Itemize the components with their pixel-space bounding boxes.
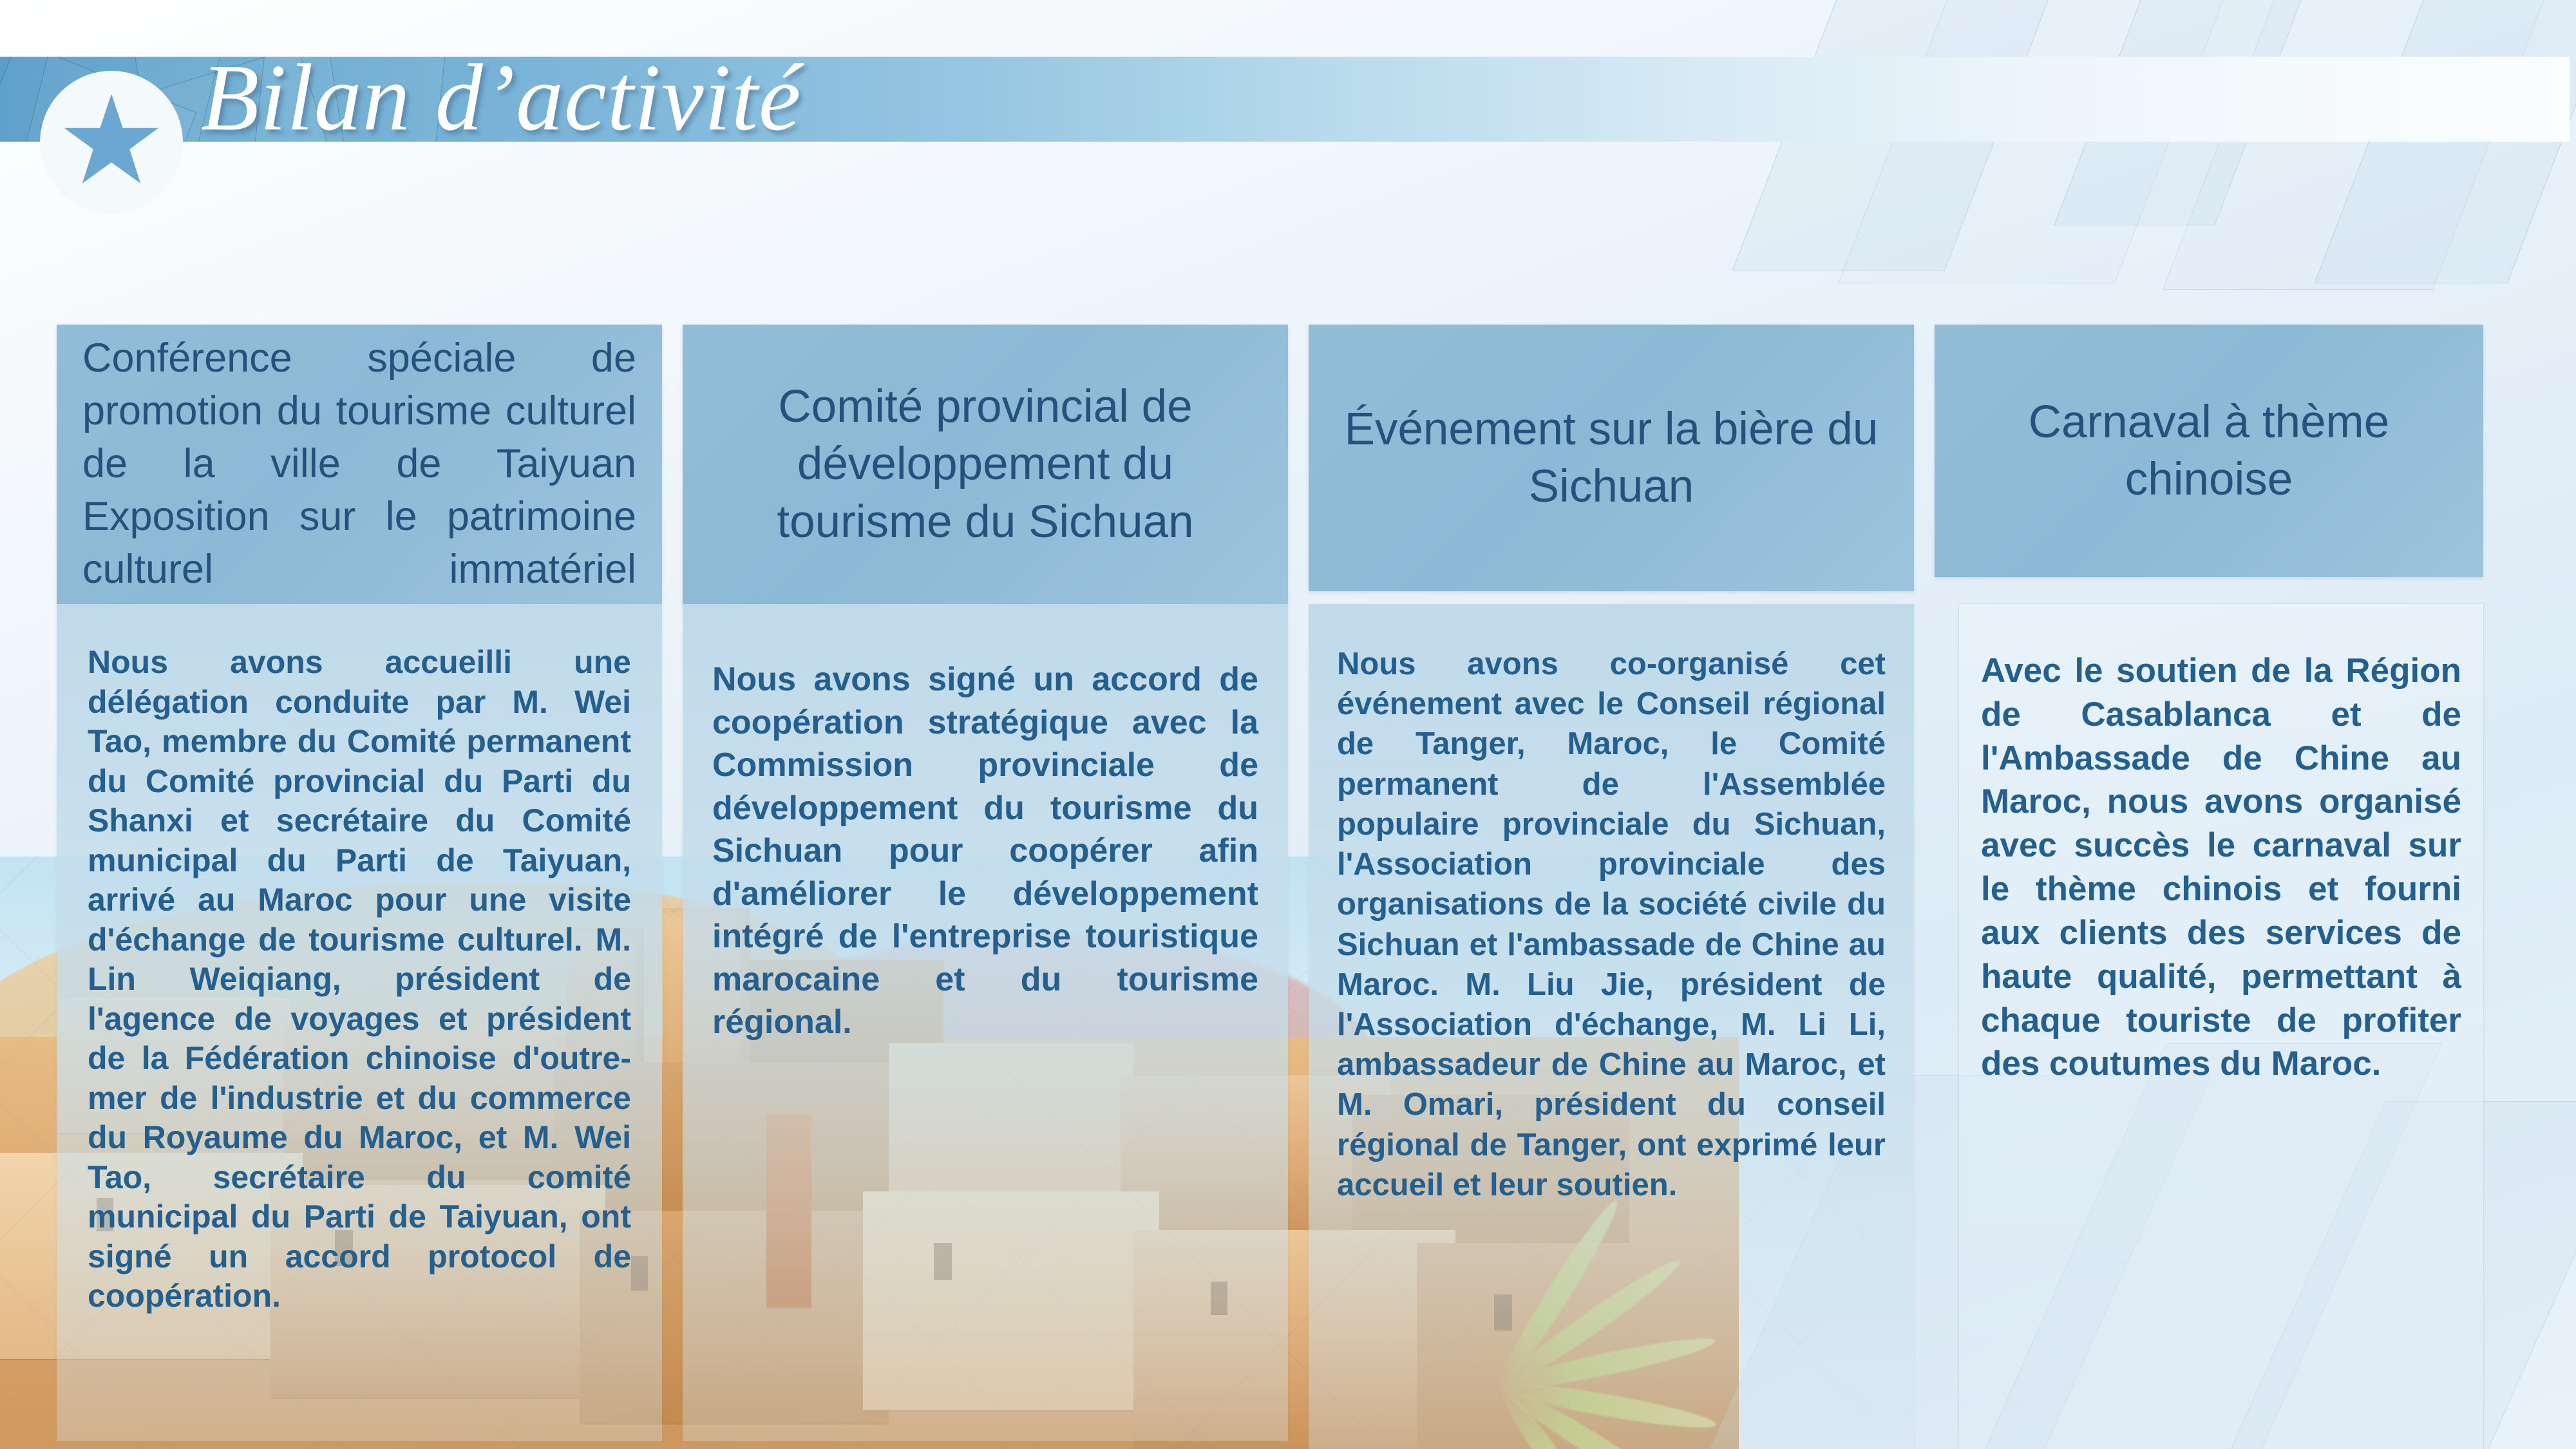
column-1-header: Conférence spéciale de promotion du tour… — [57, 325, 662, 604]
column-2: Comité provincial de développement du to… — [683, 325, 1288, 1441]
column-1-body-text: Nous avons accueilli une délégation cond… — [57, 604, 662, 1316]
page-title: Bilan d’activité — [201, 50, 801, 146]
column-2-header: Comité provincial de développement du to… — [683, 325, 1288, 604]
column-3-body: Nous avons co-organisé cet événement ave… — [1309, 604, 1914, 1449]
column-4-header: Carnaval à thème chinoise — [1935, 325, 2483, 577]
column-4-body: Avec le soutien de la Région de Casablan… — [1959, 604, 2483, 1449]
column-1: Conférence spéciale de promotion du tour… — [57, 325, 662, 1441]
columns-container: Conférence spéciale de promotion du tour… — [0, 0, 2576, 1449]
star-in-circle-icon — [40, 71, 183, 214]
column-2-body: Nous avons signé un accord de coopératio… — [683, 604, 1288, 1441]
column-3: Événement sur la bière du Sichuan Nous a… — [1309, 325, 1914, 1449]
slide-root: Bilan d’activité Conférence spéciale de … — [0, 0, 2576, 1449]
column-1-header-text: Conférence spéciale de promotion du tour… — [72, 332, 647, 596]
column-2-header-text: Comité provincial de développement du to… — [696, 378, 1275, 551]
column-1-body: Nous avons accueilli une délégation cond… — [57, 604, 662, 1441]
column-4: Carnaval à thème chinoise Avec le soutie… — [1935, 325, 2483, 1449]
column-3-header-text: Événement sur la bière du Sichuan — [1321, 401, 1901, 516]
column-4-body-text: Avec le soutien de la Région de Casablan… — [1959, 604, 2483, 1086]
column-3-body-text: Nous avons co-organisé cet événement ave… — [1309, 604, 1914, 1205]
star-glyph — [63, 94, 160, 191]
column-3-header: Événement sur la bière du Sichuan — [1309, 325, 1914, 591]
column-4-header-text: Carnaval à thème chinoise — [1947, 393, 2470, 509]
column-2-body-text: Nous avons signé un accord de coopératio… — [683, 604, 1288, 1044]
